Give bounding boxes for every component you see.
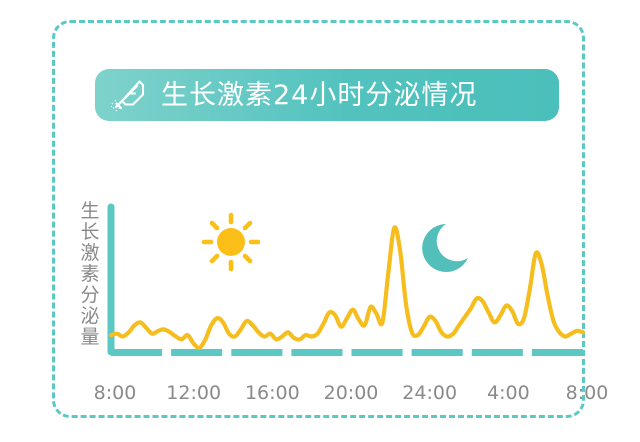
y-axis-label-char: 长 — [78, 222, 102, 243]
moon-icon — [422, 224, 468, 272]
x-axis-segment — [352, 349, 403, 356]
x-axis-tick-5: 4:00 — [487, 380, 530, 406]
feather-icon — [107, 72, 153, 118]
x-axis-segment — [291, 349, 342, 356]
x-axis-segment — [231, 349, 282, 356]
x-axis-segment — [412, 349, 463, 356]
x-axis-tick-0: 8:00 — [94, 380, 137, 406]
x-axis-tick-2: 16:00 — [245, 380, 300, 406]
x-axis-segment — [472, 349, 523, 356]
y-axis-label-char: 分 — [78, 285, 102, 306]
page-title: 生长激素24小时分泌情况 — [161, 82, 477, 109]
y-axis-label: 生 长 激 素 分 泌 量 — [78, 201, 102, 348]
x-axis — [111, 349, 583, 356]
growth-hormone-curve — [111, 227, 583, 348]
x-axis-tick-3: 20:00 — [324, 380, 379, 406]
x-axis-tick-6: 8:00 — [566, 380, 609, 406]
x-axis-segment — [111, 349, 162, 356]
x-axis-segment — [532, 349, 583, 356]
y-axis-label-char: 素 — [78, 264, 102, 285]
x-axis-segment — [171, 349, 222, 356]
x-axis-tick-4: 24:00 — [402, 380, 457, 406]
title-banner: 生长激素24小时分泌情况 — [95, 69, 559, 121]
x-axis-tick-labels: 8:0012:0016:0020:0024:004:008:00 — [111, 380, 583, 406]
y-axis-label-char: 泌 — [78, 306, 102, 327]
y-axis-label-char: 生 — [78, 201, 102, 222]
x-axis-tick-1: 12:00 — [166, 380, 221, 406]
sun-icon — [204, 215, 258, 269]
y-axis-label-char: 量 — [78, 327, 102, 348]
infographic-card: 生长激素24小时分泌情况 生 长 激 素 分 泌 量 — [52, 20, 585, 418]
y-axis-label-char: 激 — [78, 243, 102, 264]
